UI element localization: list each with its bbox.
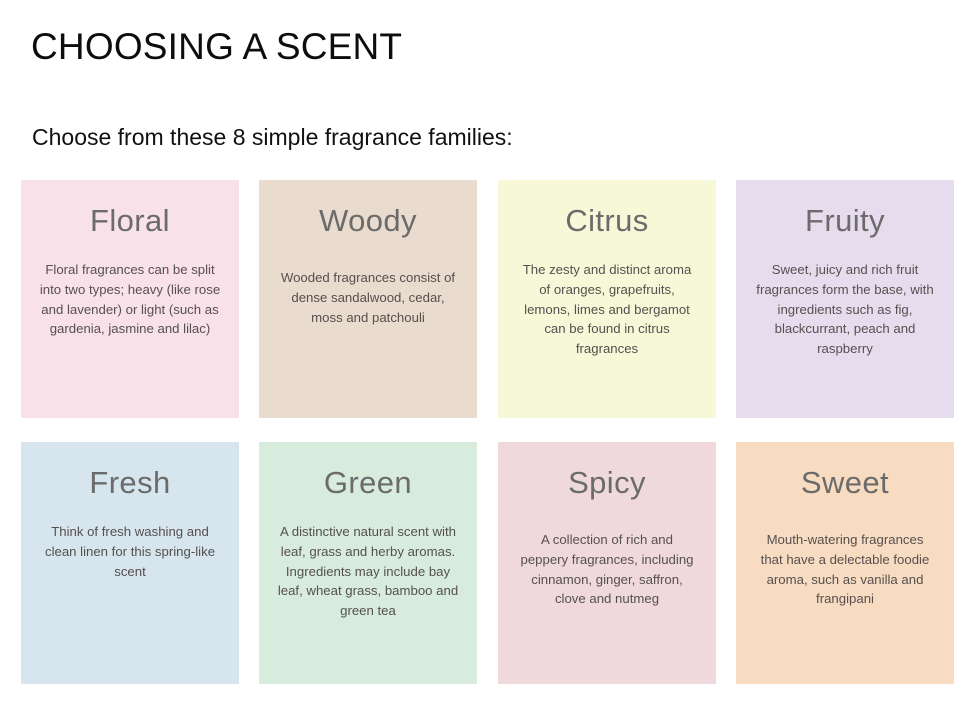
fragrance-card-title: Sweet <box>736 466 954 500</box>
fragrance-card-sweet[interactable]: Sweet Mouth-watering fragrances that hav… <box>736 442 954 684</box>
fragrance-card-title: Floral <box>21 204 239 238</box>
fragrance-card-description: A distinctive natural scent with leaf, g… <box>259 522 477 621</box>
fragrance-card-citrus[interactable]: Citrus The zesty and distinct aroma of o… <box>498 180 716 418</box>
fragrance-card-description: Wooded fragrances consist of dense sanda… <box>259 268 477 327</box>
fragrance-card-description: Floral fragrances can be split into two … <box>21 260 239 339</box>
fragrance-card-description: Mouth-watering fragrances that have a de… <box>736 530 954 609</box>
slide-subtitle: Choose from these 8 simple fragrance fam… <box>32 124 513 152</box>
page-title: CHOOSING A SCENT <box>31 26 402 69</box>
fragrance-card-description: A collection of rich and peppery fragran… <box>498 530 716 609</box>
fragrance-card-title: Spicy <box>498 466 716 500</box>
fragrance-card-title: Fruity <box>736 204 954 238</box>
fragrance-family-grid: Floral Floral fragrances can be split in… <box>21 180 959 684</box>
fragrance-card-description: The zesty and distinct aroma of oranges,… <box>498 260 716 359</box>
fragrance-card-title: Fresh <box>21 466 239 500</box>
fragrance-card-title: Citrus <box>498 204 716 238</box>
fragrance-card-description: Sweet, juicy and rich fruit fragrances f… <box>736 260 954 359</box>
fragrance-card-spicy[interactable]: Spicy A collection of rich and peppery f… <box>498 442 716 684</box>
fragrance-card-woody[interactable]: Woody Wooded fragrances consist of dense… <box>259 180 477 418</box>
fragrance-card-floral[interactable]: Floral Floral fragrances can be split in… <box>21 180 239 418</box>
fragrance-card-green[interactable]: Green A distinctive natural scent with l… <box>259 442 477 684</box>
fragrance-card-title: Green <box>259 466 477 500</box>
fragrance-card-description: Think of fresh washing and clean linen f… <box>21 522 239 581</box>
slide-canvas: CHOOSING A SCENT Choose from these 8 sim… <box>0 0 980 714</box>
fragrance-card-fruity[interactable]: Fruity Sweet, juicy and rich fruit fragr… <box>736 180 954 418</box>
fragrance-card-fresh[interactable]: Fresh Think of fresh washing and clean l… <box>21 442 239 684</box>
fragrance-card-title: Woody <box>259 204 477 238</box>
